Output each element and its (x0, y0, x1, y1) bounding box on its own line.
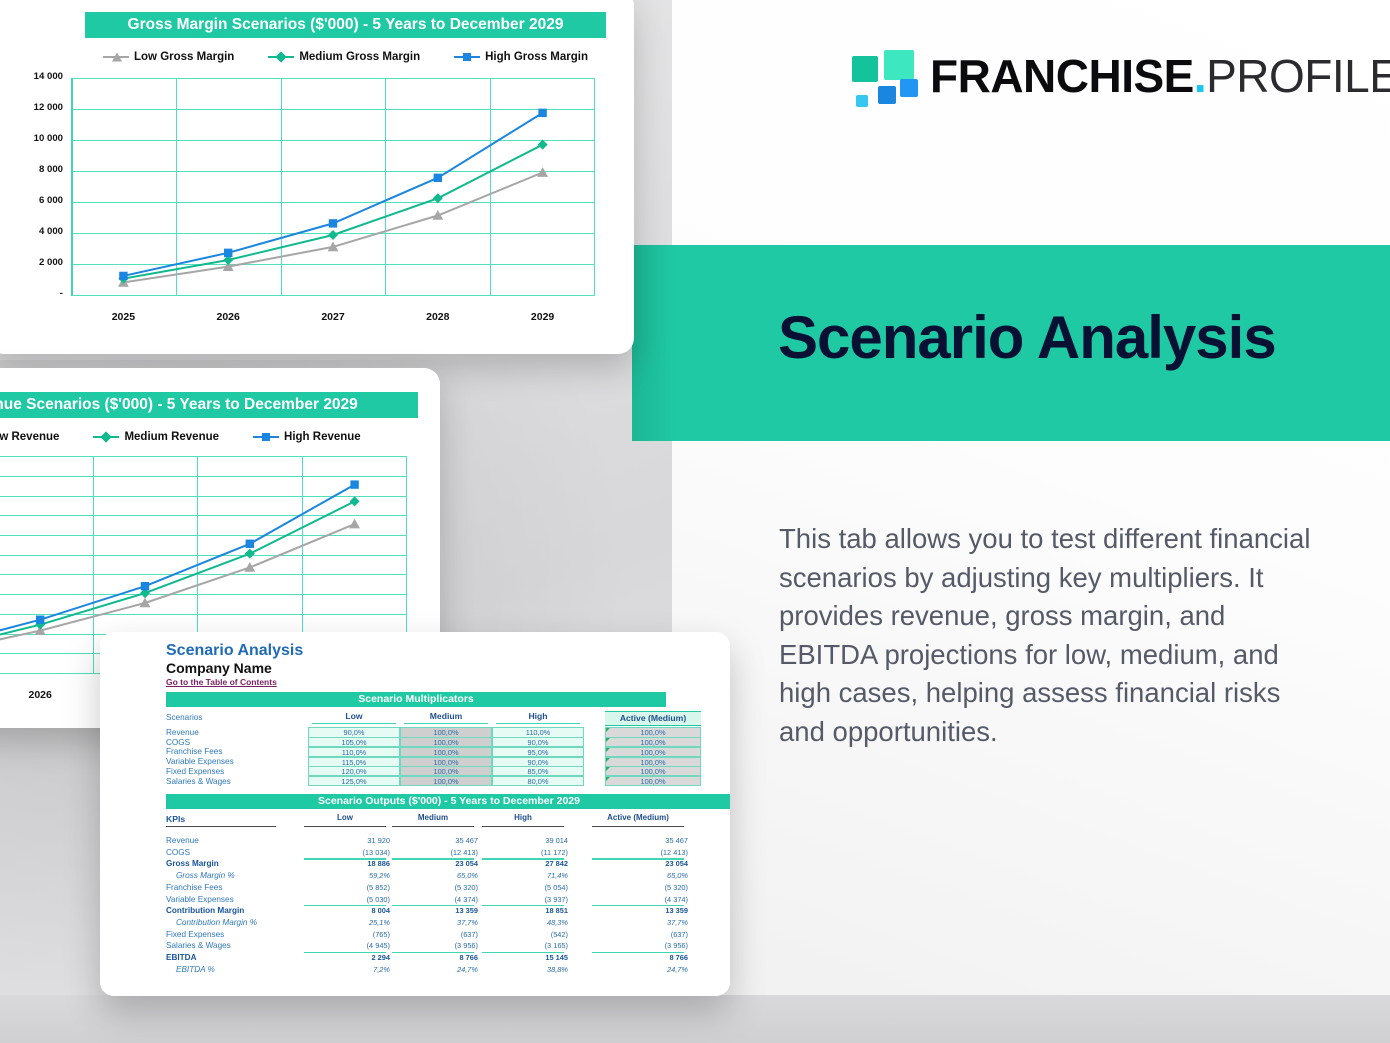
series-point-square (119, 272, 127, 280)
output-cell-low: (765) (300, 930, 390, 939)
output-row-label: EBITDA % (176, 965, 215, 974)
multiplicator-cell-medium[interactable]: 100,0% (400, 766, 492, 776)
series-point-square (434, 174, 442, 182)
gridline-horizontal (71, 295, 595, 296)
multiplicator-cell-medium[interactable]: 100,0% (400, 747, 492, 757)
multiplicator-cell-high[interactable]: 80,0% (492, 776, 584, 786)
multiplicator-row-label: Salaries & Wages (166, 777, 231, 786)
output-cell-act: (5 320) (588, 883, 688, 892)
revenue-legend: Low RevenueMedium RevenueHigh Revenue (0, 428, 418, 446)
x-axis-tick-label: 2026 (188, 311, 268, 323)
series-point-square (329, 219, 337, 227)
outputs-col-rule (304, 826, 386, 827)
multiplicators-col-header-medium: Medium (400, 711, 492, 721)
output-row-label: Salaries & Wages (166, 941, 231, 950)
output-cell-med: 65,0% (388, 871, 478, 880)
output-cell-med: (637) (388, 930, 478, 939)
logo-square-blue-small (856, 95, 868, 107)
output-row-label: Gross Margin % (176, 871, 235, 880)
legend-label: Medium Gross Margin (299, 51, 420, 63)
gross-margin-legend: Low Gross MarginMedium Gross MarginHigh … (85, 48, 606, 66)
table-of-contents-link[interactable]: Go to the Table of Contents (166, 677, 277, 687)
outputs-col-rule (592, 826, 684, 827)
output-row-label: COGS (166, 848, 190, 857)
output-cell-med: (3 956) (388, 941, 478, 950)
multiplicator-cell-high[interactable]: 110,0% (492, 727, 584, 737)
output-cell-high: (542) (478, 930, 568, 939)
series-point-square (246, 540, 254, 548)
gross-margin-chart-card: Gross Margin Scenarios ($'000) - 5 Years… (0, 0, 634, 354)
output-cell-low: 31 920 (300, 836, 390, 845)
multiplicator-cell-low[interactable]: 90,0% (308, 727, 400, 737)
logo-text-franchise: FRANCHISE (930, 50, 1194, 102)
output-cell-high: 15 145 (478, 953, 568, 962)
logo-square-blue-mid (878, 86, 896, 104)
x-axis-tick-label: 2025 (83, 311, 163, 323)
output-row-label: EBITDA (166, 953, 196, 962)
legend-item-2[interactable]: High Revenue (253, 431, 361, 443)
multiplicator-cell-active[interactable]: 100,0% (605, 737, 701, 747)
output-cell-high: (11 172) (478, 848, 568, 857)
multiplicator-cell-medium[interactable]: 100,0% (400, 757, 492, 767)
multiplicator-cell-active[interactable]: 100,0% (605, 747, 701, 757)
multiplicator-cell-low[interactable]: 115,0% (308, 757, 400, 767)
y-axis-tick-label: 2 000 (0, 257, 63, 268)
legend-label: High Gross Margin (485, 51, 588, 63)
multiplicator-cell-high[interactable]: 90,0% (492, 757, 584, 767)
legend-label: Medium Revenue (124, 431, 219, 443)
cell-comment-flag-icon (606, 758, 610, 762)
x-axis-tick-label: 2026 (0, 689, 80, 701)
multiplicator-row-label: COGS (166, 738, 190, 747)
legend-item-0[interactable]: Low Revenue (0, 431, 59, 443)
cell-comment-flag-icon (606, 767, 610, 771)
multiplicator-cell-high[interactable]: 90,0% (492, 737, 584, 747)
output-cell-med: 23 054 (388, 859, 478, 868)
outputs-row-header: KPIs (166, 814, 185, 824)
series-point-square (36, 616, 44, 624)
multiplicators-row-header: Scenarios (166, 713, 202, 722)
output-cell-low: (13 034) (300, 848, 390, 857)
series-marker-diamond (276, 51, 287, 62)
output-row-label: Contribution Margin % (176, 918, 257, 927)
y-axis-tick-label: 12 000 (0, 102, 63, 113)
legend-item-1[interactable]: Medium Revenue (93, 431, 219, 443)
multiplicator-cell-active[interactable]: 100,0% (605, 757, 701, 767)
series-line-1 (123, 145, 542, 279)
series-point-square (141, 582, 149, 590)
output-cell-act: 23 054 (588, 859, 688, 868)
output-cell-low: (5 030) (300, 895, 390, 904)
output-cell-act: 13 359 (588, 906, 688, 915)
series-point-square (538, 109, 546, 117)
output-cell-med: (5 320) (388, 883, 478, 892)
output-cell-high: (3 165) (478, 941, 568, 950)
legend-item-0[interactable]: Low Gross Margin (103, 51, 234, 63)
output-cell-med: 35 467 (388, 836, 478, 845)
legend-label: Low Revenue (0, 431, 59, 443)
brand-logo: FRANCHISE.PROFILES (852, 50, 1352, 110)
legend-line-swatch (268, 56, 294, 58)
output-cell-low: 8 004 (300, 906, 390, 915)
output-cell-med: 8 766 (388, 953, 478, 962)
series-point-diamond (328, 230, 338, 240)
y-axis-tick-label: 4 000 (0, 226, 63, 237)
page-title: Scenario Analysis (778, 306, 1378, 369)
outputs-col-rule (482, 826, 564, 827)
output-row-label: Contribution Margin (166, 906, 244, 915)
series-point-square (224, 249, 232, 257)
series-point-triangle (349, 519, 360, 529)
legend-line-swatch (454, 56, 480, 58)
background-bottom-strip (0, 995, 1390, 1043)
x-axis-tick-label: 2029 (503, 311, 583, 323)
multiplicators-active-header: Active (Medium) (605, 711, 701, 726)
output-cell-low: 2 294 (300, 953, 390, 962)
multiplicator-cell-low[interactable]: 120,0% (308, 766, 400, 776)
output-cell-high: 39 014 (478, 836, 568, 845)
logo-square-blue-right (900, 79, 918, 97)
output-cell-act: (12 413) (588, 848, 688, 857)
output-cell-low: 18 886 (300, 859, 390, 868)
output-cell-low: (4 945) (300, 941, 390, 950)
output-cell-med: 24,7% (388, 965, 478, 974)
output-cell-high: (3 937) (478, 895, 568, 904)
sheet-surface: Scenario Analysis Company Name Go to the… (100, 632, 730, 996)
gross-margin-plot-area: -2 0004 0006 0008 00010 00012 00014 0002… (71, 78, 595, 295)
legend-item-2[interactable]: High Gross Margin (454, 51, 588, 63)
output-cell-high: 27 842 (478, 859, 568, 868)
legend-label: Low Gross Margin (134, 51, 234, 63)
multiplicators-col-rule (496, 723, 580, 724)
y-axis-tick-label: - (0, 288, 63, 299)
multiplicator-cell-active[interactable]: 100,0% (605, 727, 701, 737)
output-cell-low: (5 852) (300, 883, 390, 892)
sheet-title: Scenario Analysis (166, 642, 303, 660)
cell-comment-flag-icon (606, 748, 610, 752)
series-point-diamond (433, 193, 443, 203)
multiplicators-band-title: Scenario Multiplicators (166, 692, 666, 707)
output-cell-act: 35 467 (588, 836, 688, 845)
legend-line-swatch (253, 436, 279, 438)
multiplicator-cell-medium[interactable]: 100,0% (400, 776, 492, 786)
outputs-col-header: Medium (388, 813, 478, 822)
series-point-diamond (245, 549, 255, 559)
output-row-label: Franchise Fees (166, 883, 222, 892)
x-axis-tick-label: 2027 (293, 311, 373, 323)
output-cell-act: (637) (588, 930, 688, 939)
cell-comment-flag-icon (606, 777, 610, 781)
outputs-col-header: Active (Medium) (588, 813, 688, 822)
output-cell-high: (5 054) (478, 883, 568, 892)
output-cell-high: 18 851 (478, 906, 568, 915)
output-cell-med: (4 374) (388, 895, 478, 904)
multiplicator-row-label: Revenue (166, 728, 199, 737)
multiplicators-col-rule (404, 723, 488, 724)
output-cell-low: 7,2% (300, 965, 390, 974)
series-marker-diamond (101, 431, 112, 442)
cell-comment-flag-icon (606, 738, 610, 742)
series-marker-square (463, 53, 471, 61)
output-cell-act: 37,7% (588, 918, 688, 927)
logo-square-teal-dark (852, 56, 878, 82)
y-axis-tick-label: 8 000 (0, 164, 63, 175)
multiplicator-row-label: Franchise Fees (166, 747, 222, 756)
logo-text-dot: . (1194, 50, 1206, 102)
series-line-2 (123, 113, 542, 276)
multiplicator-cell-medium[interactable]: 100,0% (400, 737, 492, 747)
multiplicators-col-header-high: High (492, 711, 584, 721)
y-axis-tick-label: 10 000 (0, 133, 63, 144)
output-row-label: Revenue (166, 836, 199, 845)
output-cell-low: 59,2% (300, 871, 390, 880)
x-axis-tick-label: 2028 (398, 311, 478, 323)
y-axis-tick-label: 6 000 (0, 195, 63, 206)
series-marker-square (262, 433, 270, 441)
outputs-col-rule (392, 826, 474, 827)
legend-line-swatch (103, 56, 129, 58)
output-row-label: Fixed Expenses (166, 930, 224, 939)
output-cell-high: 48,3% (478, 918, 568, 927)
multiplicators-col-header-low: Low (308, 711, 400, 721)
output-cell-high: 38,8% (478, 965, 568, 974)
logo-text-profiles: PROFILES (1206, 50, 1390, 102)
multiplicator-cell-low[interactable]: 110,0% (308, 747, 400, 757)
multiplicator-cell-active[interactable]: 100,0% (605, 766, 701, 776)
logo-wordmark: FRANCHISE.PROFILES (930, 46, 1390, 106)
scenario-analysis-sheet-card: Scenario Analysis Company Name Go to the… (100, 632, 730, 996)
logo-square-green-light (884, 50, 914, 80)
output-row-label: Gross Margin (166, 859, 219, 868)
description-text: This tab allows you to test different fi… (779, 520, 1324, 751)
series-line-2 (0, 485, 355, 648)
multiplicator-cell-high[interactable]: 85,0% (492, 766, 584, 776)
y-axis-tick-label: 14 000 (0, 71, 63, 82)
legend-label: High Revenue (284, 431, 361, 443)
outputs-col-header: Low (300, 813, 390, 822)
output-cell-act: (3 956) (588, 941, 688, 950)
output-cell-low: 25,1% (300, 918, 390, 927)
series-layer (71, 78, 595, 295)
output-cell-act: 65,0% (588, 871, 688, 880)
series-point-square (350, 480, 358, 488)
multiplicator-cell-low[interactable]: 125,0% (308, 776, 400, 786)
output-cell-act: 8 766 (588, 953, 688, 962)
outputs-col-header: High (478, 813, 568, 822)
outputs-band-title: Scenario Outputs ($'000) - 5 Years to De… (166, 794, 730, 809)
banner-shade (632, 245, 676, 441)
series-marker-triangle (112, 53, 122, 62)
output-cell-high: 71,4% (478, 871, 568, 880)
series-point-triangle (537, 167, 548, 177)
cell-comment-flag-icon (606, 728, 610, 732)
gross-margin-chart-title: Gross Margin Scenarios ($'000) - 5 Years… (85, 12, 606, 38)
multiplicators-col-rule (312, 723, 396, 724)
output-cell-med: 13 359 (388, 906, 478, 915)
multiplicator-row-label: Variable Expenses (166, 757, 234, 766)
output-cell-act: (4 374) (588, 895, 688, 904)
series-point-diamond (538, 140, 548, 150)
multiplicator-cell-medium[interactable]: 100,0% (400, 727, 492, 737)
multiplicator-row-label: Fixed Expenses (166, 767, 224, 776)
series-point-diamond (350, 496, 360, 506)
multiplicator-cell-active[interactable]: 100,0% (605, 776, 701, 786)
legend-line-swatch (93, 436, 119, 438)
revenue-chart-title: Revenue Scenarios ($'000) - 5 Years to D… (0, 392, 418, 418)
legend-item-1[interactable]: Medium Gross Margin (268, 51, 420, 63)
output-cell-act: 24,7% (588, 965, 688, 974)
output-cell-med: 37,7% (388, 918, 478, 927)
multiplicator-cell-high[interactable]: 95,0% (492, 747, 584, 757)
output-row-label: Variable Expenses (166, 895, 234, 904)
output-cell-med: (12 413) (388, 848, 478, 857)
sheet-company-name: Company Name (166, 660, 272, 676)
multiplicator-cell-low[interactable]: 105,0% (308, 737, 400, 747)
outputs-header-rule (166, 826, 276, 827)
